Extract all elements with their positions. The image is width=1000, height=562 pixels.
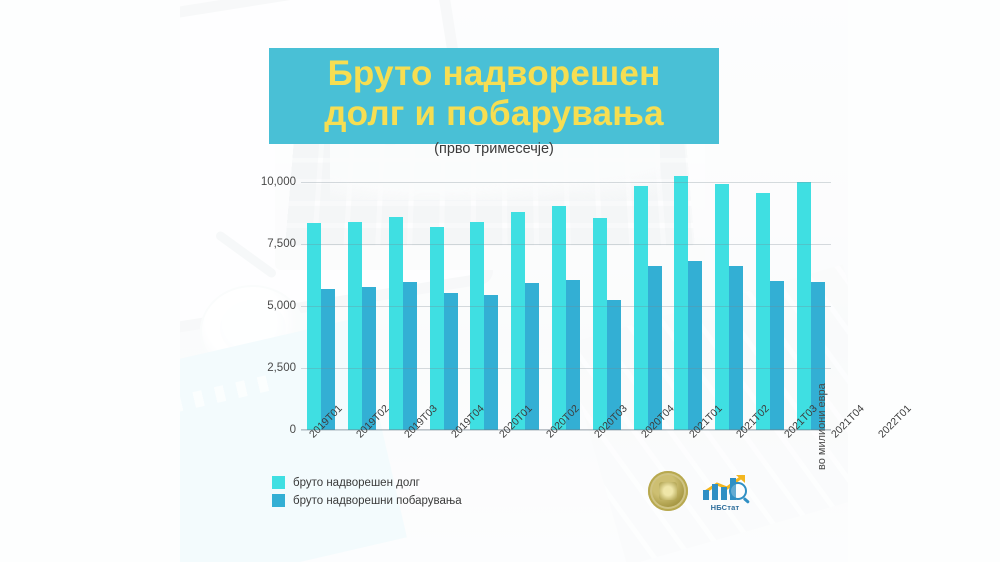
bar-group (383, 217, 424, 430)
y-axis-tick-label: 0 (290, 424, 296, 436)
infographic-canvas: Бруто надворешен долг и побарувања (прво… (0, 0, 1000, 562)
bar-group (627, 186, 668, 430)
bar-claims[interactable] (403, 282, 417, 430)
logo-bar (721, 487, 727, 500)
bar-debt[interactable] (470, 222, 484, 430)
logo-group: НБСтат (648, 470, 753, 512)
bar-claims[interactable] (770, 281, 784, 430)
magnifier-icon (729, 482, 747, 500)
bar-group (668, 176, 709, 430)
legend-item-debt: бруто надворешен долг (272, 476, 462, 489)
legend-label-claims: бруто надворешни побарувања (293, 495, 462, 507)
bar-group (546, 206, 587, 430)
y-axis-ticks: 10,0007,5005,0002,5000 (236, 182, 296, 430)
y-axis-title: во милиони евра (816, 383, 828, 470)
bar-group (464, 222, 505, 430)
legend-swatch-claims (272, 494, 285, 507)
title-band: Бруто надворешен долг и побарувања (269, 48, 719, 144)
bar-group (586, 218, 627, 430)
bar-claims[interactable] (729, 266, 743, 430)
y-axis-tick-label: 10,000 (261, 176, 296, 188)
bar-claims[interactable] (362, 287, 376, 430)
page-title-line2: долг и побарувања (279, 94, 709, 134)
bar-group (423, 227, 464, 430)
y-axis-tick-label: 7,500 (267, 238, 296, 250)
bar-debt[interactable] (552, 206, 566, 430)
bar-group (342, 222, 383, 430)
bar-group (749, 193, 790, 430)
bar-claims[interactable] (688, 261, 702, 430)
bar-debt[interactable] (756, 193, 770, 430)
y-axis-tick-label: 2,500 (267, 362, 296, 374)
chart-legend: бруто надворешен долг бруто надворешни п… (272, 476, 462, 512)
bar-claims[interactable] (444, 293, 458, 430)
legend-swatch-debt (272, 476, 285, 489)
bar-debt[interactable] (593, 218, 607, 430)
gridline (301, 368, 831, 369)
gridline (301, 182, 831, 183)
gridline (301, 306, 831, 307)
bar-debt[interactable] (389, 217, 403, 430)
bar-claims[interactable] (484, 295, 498, 430)
bar-claims[interactable] (648, 266, 662, 430)
national-bank-seal-icon (648, 471, 688, 511)
bar-debt[interactable] (674, 176, 688, 430)
bar-debt[interactable] (634, 186, 648, 430)
y-axis-tick-label: 5,000 (267, 300, 296, 312)
page-title-line1: Бруто надворешен (279, 54, 709, 94)
plot-area (301, 182, 831, 430)
bar-debt[interactable] (430, 227, 444, 430)
logo-bar (703, 490, 709, 500)
legend-label-debt: бруто надворешен долг (293, 477, 420, 489)
x-axis-tick-label: 2022Т01 (876, 403, 945, 472)
logo-bar (712, 484, 718, 500)
gridline (301, 244, 831, 245)
bar-group (709, 184, 750, 430)
bar-debt[interactable] (307, 223, 321, 430)
bar-debt[interactable] (348, 222, 362, 430)
legend-item-claims: бруто надворешни побарувања (272, 494, 462, 507)
nbstat-logo: НБСтат (697, 470, 753, 512)
bar-chart: 10,0007,5005,0002,5000 2019Т012019Т02201… (180, 170, 848, 490)
page-subtitle: (прво тримесечје) (269, 141, 719, 157)
nbstat-label: НБСтат (697, 503, 753, 512)
bar-debt[interactable] (715, 184, 729, 430)
bar-group (301, 223, 342, 430)
